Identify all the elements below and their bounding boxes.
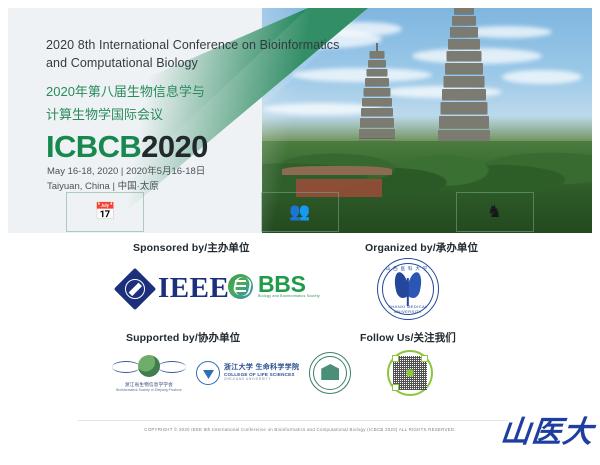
- supporter-0-en: Bioinformatics Society of Zhejiang Provi…: [116, 388, 182, 392]
- bbs-logo[interactable]: BBS Biology and Bioinformatics Society: [228, 274, 320, 299]
- icon-cell-speaker[interactable]: ♞: [397, 190, 592, 233]
- icon-cell-people[interactable]: 👥: [203, 190, 398, 233]
- wechat-qr-code[interactable]: [387, 350, 433, 396]
- podium-speaker-icon: ♞: [487, 203, 502, 220]
- ieee-diamond-icon: [114, 267, 156, 309]
- conference-poster: 2020 8th International Conference on Bio…: [0, 0, 600, 465]
- meta-dates: May 16-18, 2020 | 2020年5月16-18日: [47, 164, 205, 179]
- title-cn-line1: 2020年第八届生物信息学与: [46, 81, 376, 102]
- qr-eye-top-left: [392, 355, 399, 362]
- pagoda-large: [438, 8, 490, 155]
- title-en-line1: 2020 8th International Conference on Bio…: [46, 36, 376, 54]
- bbs-dna-icon: [228, 274, 253, 299]
- supporter-logo-shanxi-medical[interactable]: [309, 352, 351, 394]
- conference-acronym: ICBCB2020: [46, 129, 208, 165]
- zju-seal-icon: [196, 361, 220, 385]
- bbs-wordmark: BBS: [258, 274, 320, 294]
- supporter-logo-zhejiang-university[interactable]: 浙江大学 生命科学学院 COLLEGE OF LIFE SCIENCES ZHE…: [196, 361, 299, 385]
- bbs-subtitle: Biology and Bioinformatics Society: [258, 294, 320, 299]
- supported-by-label: Supported by/协办单位: [126, 330, 240, 345]
- calendar-icon: 📅: [95, 203, 116, 220]
- people-group-icon: 👥: [289, 203, 310, 220]
- acronym-year: 2020: [141, 129, 208, 164]
- footer-divider: [78, 420, 508, 421]
- qr-center-logo: [407, 370, 414, 377]
- sxmu-seal-icon: [309, 352, 351, 394]
- title-en-line2: and Computational Biology: [46, 54, 376, 72]
- seal-en-text: SHANXI MEDICAL UNIVERSITY: [378, 304, 438, 314]
- supporter-1-cn: 浙江大学 生命科学学院: [224, 364, 299, 371]
- sponsored-by-label: Sponsored by/主办单位: [133, 240, 250, 255]
- organized-by-label: Organized by/承办单位: [365, 240, 478, 255]
- seal-flame-icon: [395, 272, 421, 306]
- qr-eye-top-right: [421, 355, 428, 362]
- supporter-logo-zhejiang-bioinformatics[interactable]: 浙江省生物信息学学会 Bioinformatics Society of Zhe…: [112, 354, 186, 392]
- hero-title-block: 2020 8th International Conference on Bio…: [46, 36, 376, 125]
- icon-cell-calendar[interactable]: 📅: [8, 190, 203, 233]
- supporter-logos: 浙江省生物信息学学会 Bioinformatics Society of Zhe…: [112, 352, 351, 394]
- qr-eye-bottom-left: [392, 384, 399, 391]
- sxmu-calligraphy-brandmark: 山医大: [499, 407, 597, 451]
- follow-us-label: Follow Us/关注我们: [360, 330, 456, 345]
- ieee-logo[interactable]: IEEE: [120, 272, 229, 305]
- supporter-1-en2: ZHEJIANG UNIVERSITY: [224, 378, 299, 381]
- dna-globe-icon: [112, 354, 186, 380]
- acronym-icbcb: ICBCB: [46, 129, 141, 164]
- title-cn-line2: 计算生物学国际会议: [46, 104, 376, 125]
- shanxi-medical-university-seal[interactable]: 山西医科大学 SHANXI MEDICAL UNIVERSITY: [377, 258, 439, 320]
- hero-icon-strip: 📅 👥 ♞: [8, 190, 592, 233]
- ieee-wordmark: IEEE: [158, 272, 229, 305]
